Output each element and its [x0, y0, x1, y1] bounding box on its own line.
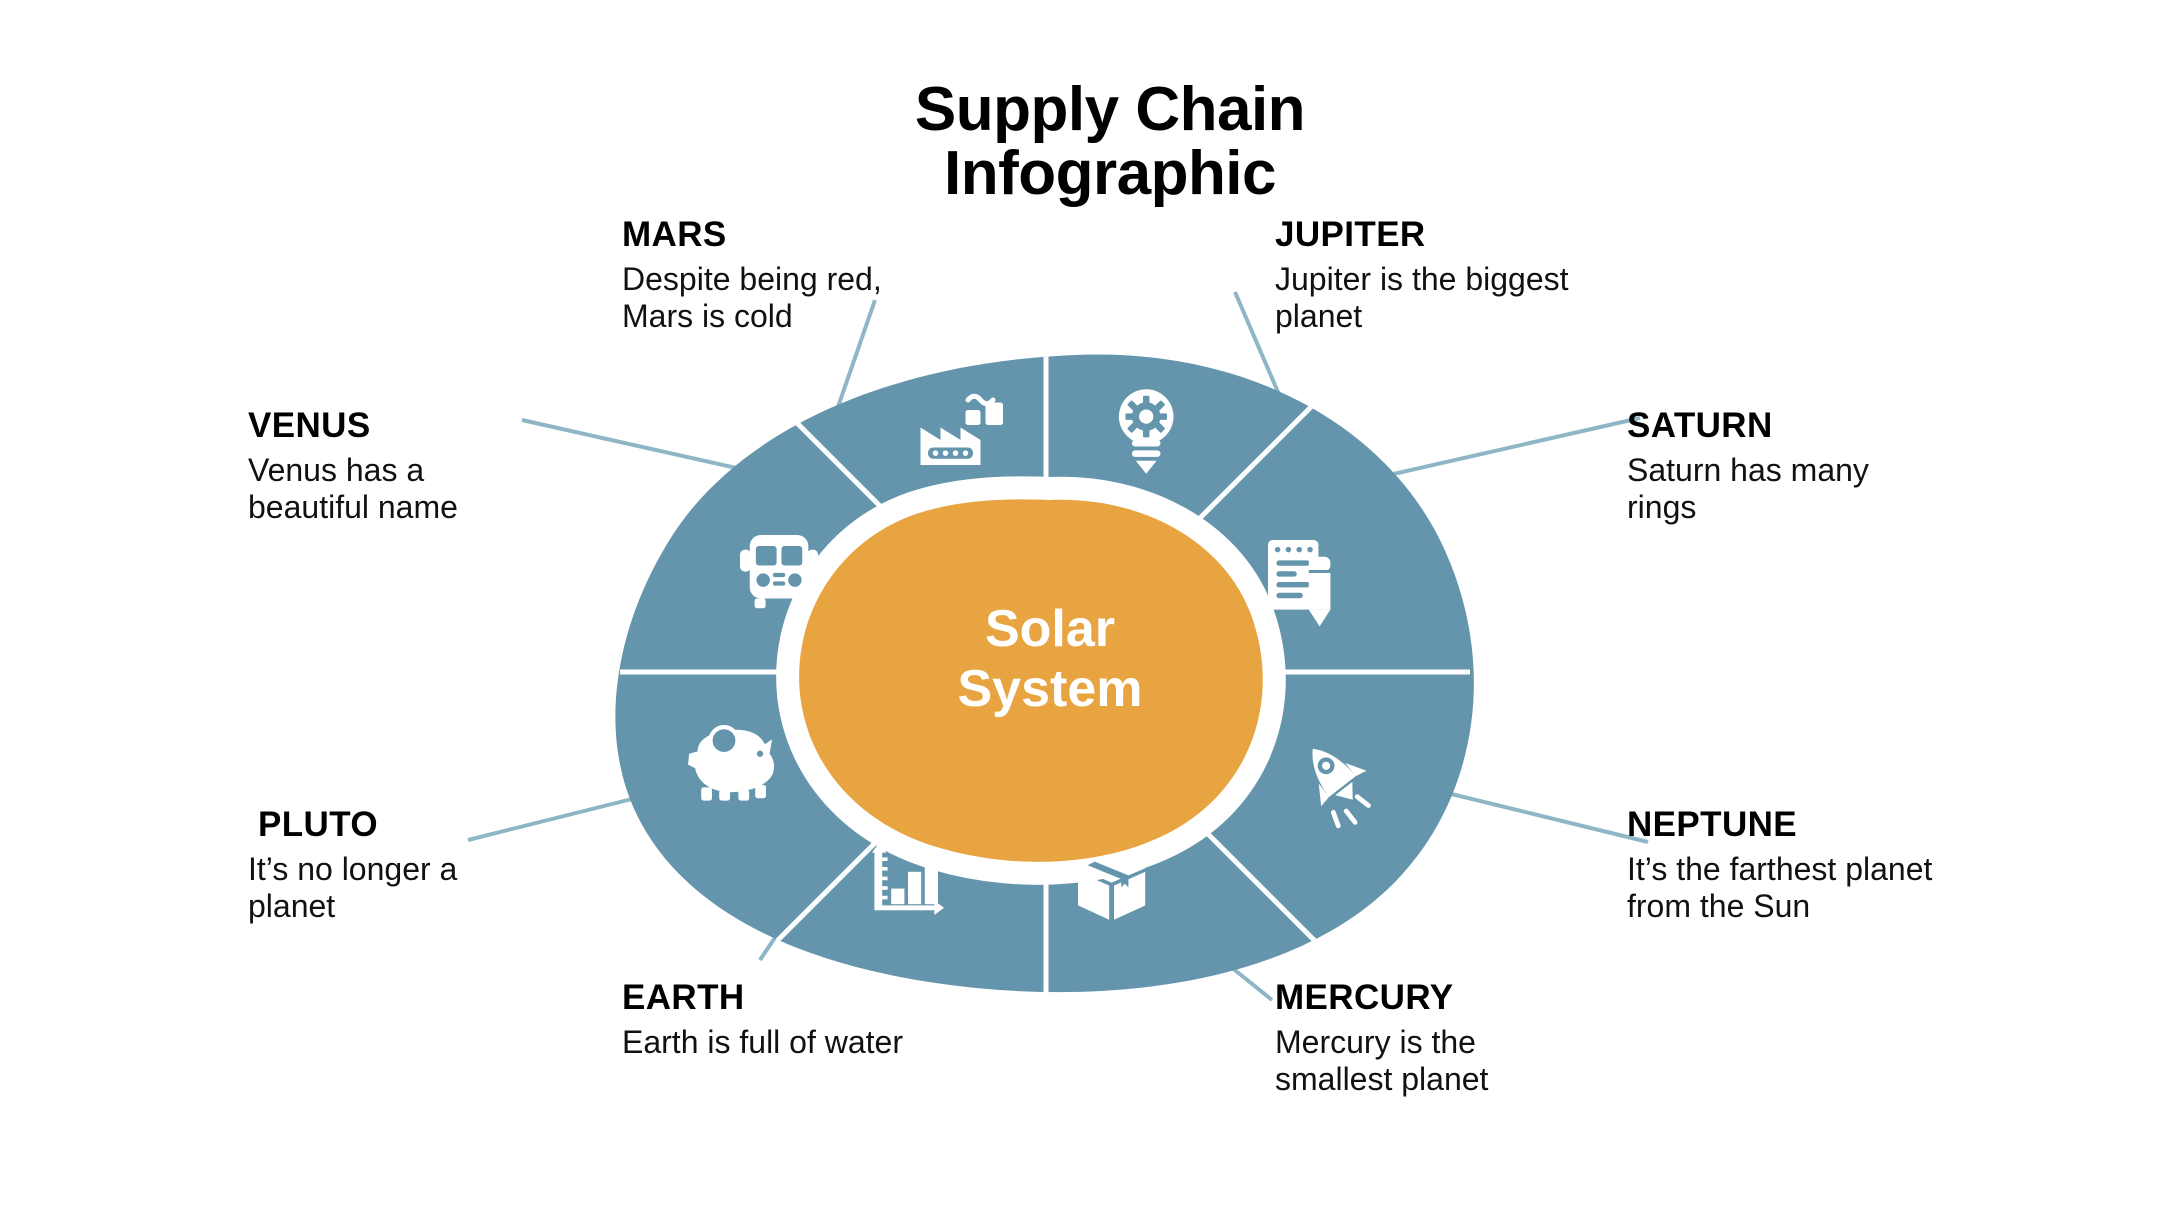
callout-pluto-desc: It’s no longer a planet — [248, 851, 548, 926]
callout-earth-title: EARTH — [622, 978, 922, 1018]
callout-neptune[interactable]: NEPTUNE It’s the farthest planet from th… — [1627, 805, 1987, 926]
callout-jupiter-title: JUPITER — [1275, 215, 1575, 255]
callout-pluto-title: PLUTO — [258, 805, 548, 845]
callout-mars[interactable]: MARS Despite being red, Mars is cold — [622, 215, 922, 336]
page-title: Supply Chain Infographic — [780, 78, 1440, 206]
callout-pluto[interactable]: PLUTO It’s no longer a planet — [248, 805, 548, 926]
callout-venus[interactable]: VENUS Venus has a beautiful name — [248, 406, 548, 527]
callout-saturn-title: SATURN — [1627, 406, 1947, 446]
callout-neptune-title: NEPTUNE — [1627, 805, 1987, 845]
callout-saturn[interactable]: SATURN Saturn has many rings — [1627, 406, 1947, 527]
callout-mercury-title: MERCURY — [1275, 978, 1575, 1018]
center-orange-blob — [799, 499, 1263, 861]
page-title-line2: Infographic — [780, 142, 1440, 206]
callout-mars-desc: Despite being red, Mars is cold — [622, 261, 922, 336]
callout-jupiter-desc: Jupiter is the biggest planet — [1275, 261, 1575, 336]
callout-neptune-desc: It’s the farthest planet from the Sun — [1627, 851, 1987, 926]
callout-mercury-desc: Mercury is the smallest planet — [1275, 1024, 1575, 1099]
callout-venus-title: VENUS — [248, 406, 548, 446]
callout-mars-title: MARS — [622, 215, 922, 255]
callout-earth-desc: Earth is full of water — [622, 1024, 922, 1061]
callout-jupiter[interactable]: JUPITER Jupiter is the biggest planet — [1275, 215, 1575, 336]
infographic-canvas: Supply Chain Infographic Solar System MA… — [0, 0, 2160, 1215]
page-title-line1: Supply Chain — [780, 78, 1440, 142]
callout-mercury[interactable]: MERCURY Mercury is the smallest planet — [1275, 978, 1575, 1099]
callout-venus-desc: Venus has a beautiful name — [248, 452, 548, 527]
leader-line-neptune — [1435, 790, 1648, 842]
callout-saturn-desc: Saturn has many rings — [1627, 452, 1947, 527]
callout-earth[interactable]: EARTH Earth is full of water — [622, 978, 922, 1061]
